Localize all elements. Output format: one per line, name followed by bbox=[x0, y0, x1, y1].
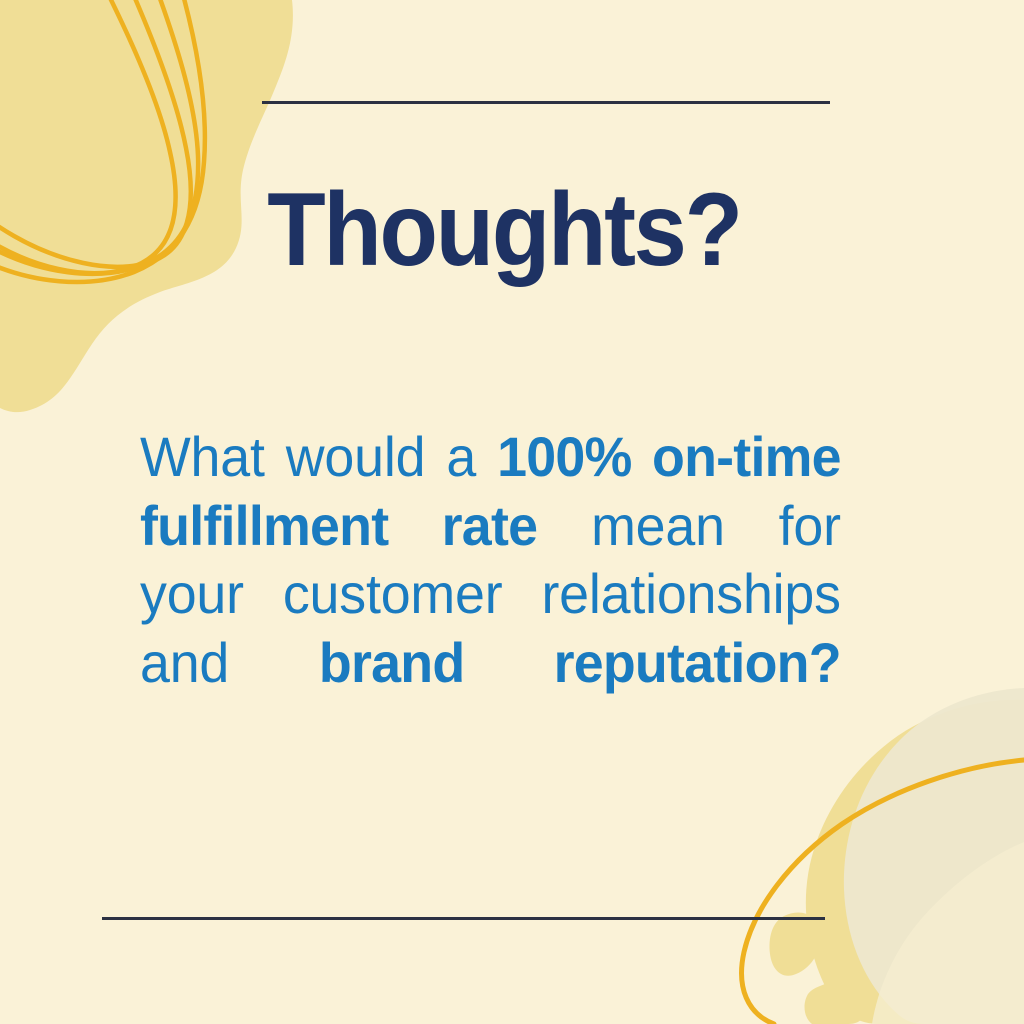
page-title: Thoughts? bbox=[169, 178, 839, 282]
small-teardrop-lower-shape bbox=[805, 982, 865, 1024]
beige-round-blob-shape bbox=[844, 688, 1024, 1024]
body-question-text: What would a 100% on-time fulfillment ra… bbox=[140, 423, 841, 766]
gold-arc-line-shape bbox=[742, 760, 1024, 1024]
small-teardrop-upper-shape bbox=[770, 912, 821, 975]
body-segment-plain-1: What would a bbox=[140, 425, 497, 488]
top-divider-rule bbox=[262, 101, 830, 104]
bottom-divider-rule bbox=[102, 917, 825, 920]
light-corner-wedge-shape bbox=[872, 842, 1024, 1024]
body-segment-bold-2: brand reputation? bbox=[319, 631, 841, 694]
social-card-canvas: Thoughts? What would a 100% on-time fulf… bbox=[0, 0, 1024, 1024]
